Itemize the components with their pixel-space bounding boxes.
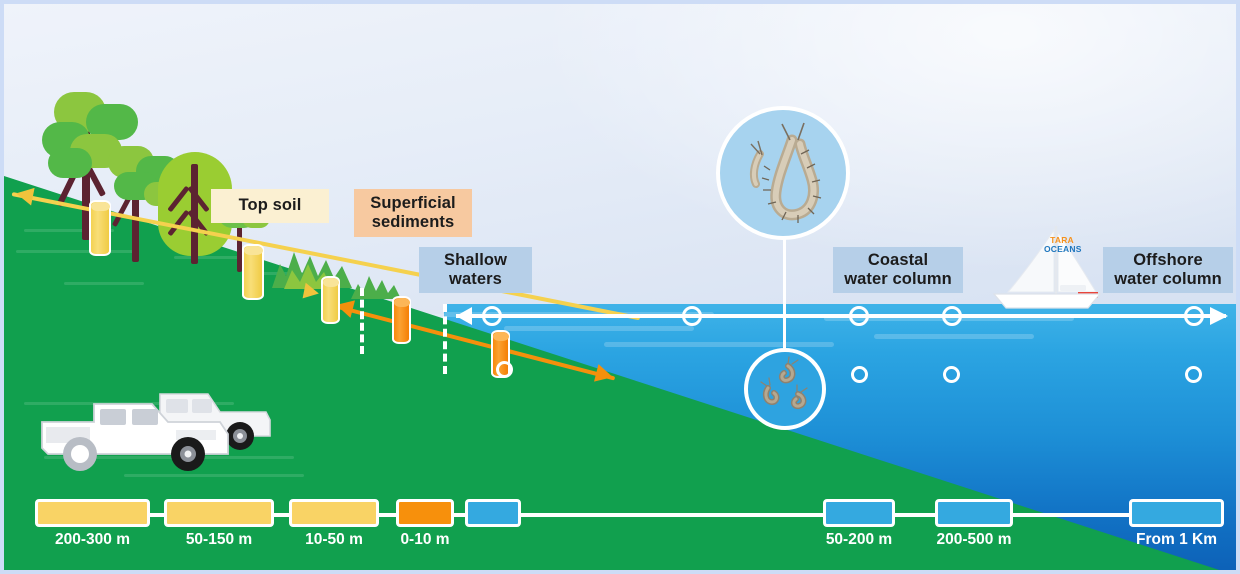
zone-label-top-soil-text: Top soil [239,196,302,215]
sediment-fauna-bubble [744,348,826,430]
distance-segment[interactable] [823,499,895,527]
sampling-station-deep-3[interactable] [943,366,960,383]
zone-label-top-soil: Top soil [211,189,329,223]
sampling-station-surface-3[interactable] [849,306,869,326]
zone-label-shallow-waters: Shallow waters [419,247,532,293]
distance-segment-label: From 1 Km [1097,531,1240,549]
distance-segment[interactable] [1129,499,1224,527]
sampling-station-surface-1[interactable] [482,306,502,326]
distance-segment-label: 0-10 m [345,531,505,549]
zone-label-superficial-sediments: Superficial sediments [354,189,472,237]
sampling-station-surface-5[interactable] [1184,306,1204,326]
distance-segment[interactable] [164,499,274,527]
tara-oceans-logo: TARA OCEANS [1044,236,1080,253]
zone-label-coastal-water-column-line2: water column [844,270,952,289]
zone-label-offshore-water-column-line1: Offshore [1133,251,1203,270]
zone-label-shallow-waters-line2: waters [449,270,502,289]
zone-label-coastal-water-column-line1: Coastal [868,251,928,270]
figure-canvas: TARA OCEANS [0,0,1240,574]
tara-logo-line2: OCEANS [1044,245,1080,254]
zone-label-shallow-waters-line1: Shallow [444,251,507,270]
zone-label-offshore-water-column-line2: water column [1114,270,1222,289]
water-transect-arrow-left [456,307,472,325]
soil-transect-arrow-right [303,283,321,302]
sampling-station-surface-2[interactable] [682,306,702,326]
zone-label-offshore-water-column: Offshore water column [1103,247,1233,293]
water-transect-line [456,314,1226,318]
soil-core-3 [321,276,340,324]
soil-transect-arrow-left [14,185,34,206]
distance-segment-label: 200-500 m [894,531,1054,549]
zone-label-coastal-water-column: Coastal water column [833,247,963,293]
zone-label-superficial-sediments-line1: Superficial [370,194,455,213]
soil-core-2 [242,244,264,300]
sampling-station-deep-4[interactable] [1185,366,1202,383]
water-transect-arrow-right [1210,307,1228,325]
distance-segment[interactable] [396,499,454,527]
zone-divider-2 [443,304,447,374]
distance-segment[interactable] [465,499,521,527]
research-sailboat: TARA OCEANS [984,222,1104,319]
sampling-station-deep-2[interactable] [851,366,868,383]
sediment-core-1 [392,296,411,344]
sampling-station-deep-1[interactable] [496,361,513,378]
polychaete-closeup-bubble [716,106,850,240]
distance-segment[interactable] [35,499,150,527]
distance-segment[interactable] [935,499,1013,527]
sampling-station-surface-4[interactable] [942,306,962,326]
soil-core-1 [89,200,111,256]
zone-label-superficial-sediments-line2: sediments [372,213,455,232]
zone-divider-1 [360,288,364,354]
pickup-truck-front [36,396,236,479]
distance-segment[interactable] [289,499,379,527]
callout-stem-upper [783,232,786,352]
